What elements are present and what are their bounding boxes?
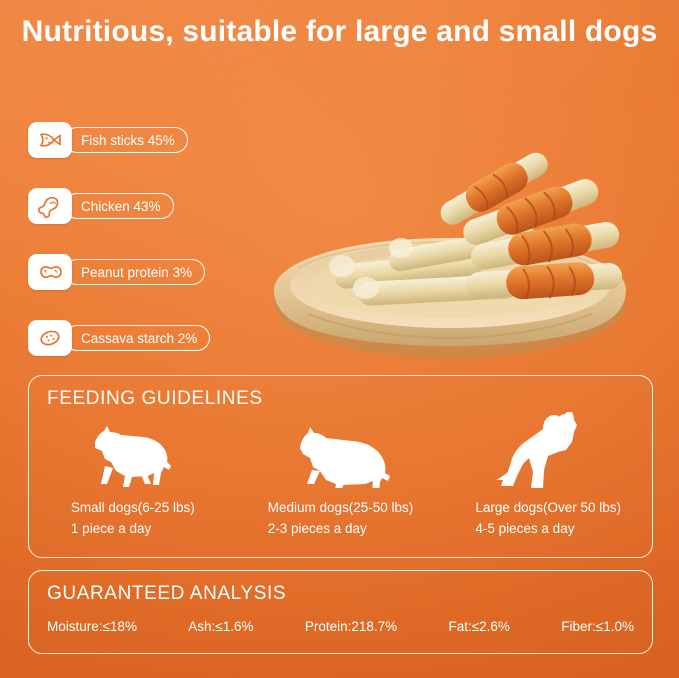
- feeding-small-size: Small dogs(6-25 lbs): [71, 498, 195, 519]
- analysis-values-row: Moisture:≤18% Ash:≤1.6% Protein:218.7% F…: [47, 619, 634, 634]
- ingredient-label: Cassava starch 2%: [64, 325, 210, 351]
- ingredient-item-peanut: Peanut protein 3%: [28, 250, 210, 294]
- feeding-medium-text: Medium dogs(25-50 lbs) 2-3 pieces a day: [268, 498, 414, 540]
- feeding-small-amount: 1 piece a day: [71, 519, 195, 540]
- ingredient-label: Chicken 43%: [64, 193, 174, 219]
- guaranteed-analysis-title: GUARANTEED ANALYSIS: [47, 583, 286, 605]
- medium-dog-silhouette: [286, 420, 396, 488]
- feeding-large-size: Large dogs(Over 50 lbs): [475, 498, 621, 519]
- feeding-guidelines-title: FEEDING GUIDELINES: [47, 388, 263, 410]
- feeding-medium-size: Medium dogs(25-50 lbs): [268, 498, 414, 519]
- product-photo: [238, 118, 668, 368]
- ingredient-list: Fish sticks 45% Chicken 43% Peanut prote…: [28, 118, 210, 382]
- peanut-icon: [28, 254, 72, 290]
- fish-icon: [28, 122, 72, 158]
- feeding-column-small: Small dogs(6-25 lbs) 1 piece a day: [29, 420, 237, 540]
- analysis-item-moisture: Moisture:≤18%: [47, 619, 137, 634]
- ingredient-label: Peanut protein 3%: [64, 259, 205, 285]
- ingredient-item-fish: Fish sticks 45%: [28, 118, 210, 162]
- feeding-columns: Small dogs(6-25 lbs) 1 piece a day Mediu…: [29, 420, 652, 540]
- feeding-large-text: Large dogs(Over 50 lbs) 4-5 pieces a day: [475, 498, 621, 540]
- analysis-item-fiber: Fiber:≤1.0%: [561, 619, 634, 634]
- feeding-column-medium: Medium dogs(25-50 lbs) 2-3 pieces a day: [237, 420, 445, 540]
- feeding-large-amount: 4-5 pieces a day: [475, 519, 621, 540]
- feeding-column-large: Large dogs(Over 50 lbs) 4-5 pieces a day: [444, 420, 652, 540]
- product-infographic: Nutritious, suitable for large and small…: [0, 0, 679, 678]
- ingredient-label: Fish sticks 45%: [64, 127, 188, 153]
- ingredient-item-chicken: Chicken 43%: [28, 184, 210, 228]
- analysis-item-fat: Fat:≤2.6%: [449, 619, 510, 634]
- feeding-medium-amount: 2-3 pieces a day: [268, 519, 414, 540]
- chicken-leg-icon: [28, 188, 72, 224]
- analysis-item-protein: Protein:218.7%: [305, 619, 397, 634]
- cassava-icon: [28, 320, 72, 356]
- ingredient-item-cassava: Cassava starch 2%: [28, 316, 210, 360]
- analysis-item-ash: Ash:≤1.6%: [188, 619, 253, 634]
- feeding-guidelines-panel: FEEDING GUIDELINES Small dogs(6-25 lbs) …: [28, 375, 653, 558]
- page-title: Nutritious, suitable for large and small…: [0, 12, 679, 52]
- guaranteed-analysis-panel: GUARANTEED ANALYSIS Moisture:≤18% Ash:≤1…: [28, 570, 653, 654]
- feeding-small-text: Small dogs(6-25 lbs) 1 piece a day: [71, 498, 195, 540]
- large-dog-silhouette: [488, 420, 608, 488]
- small-dog-silhouette: [83, 420, 183, 488]
